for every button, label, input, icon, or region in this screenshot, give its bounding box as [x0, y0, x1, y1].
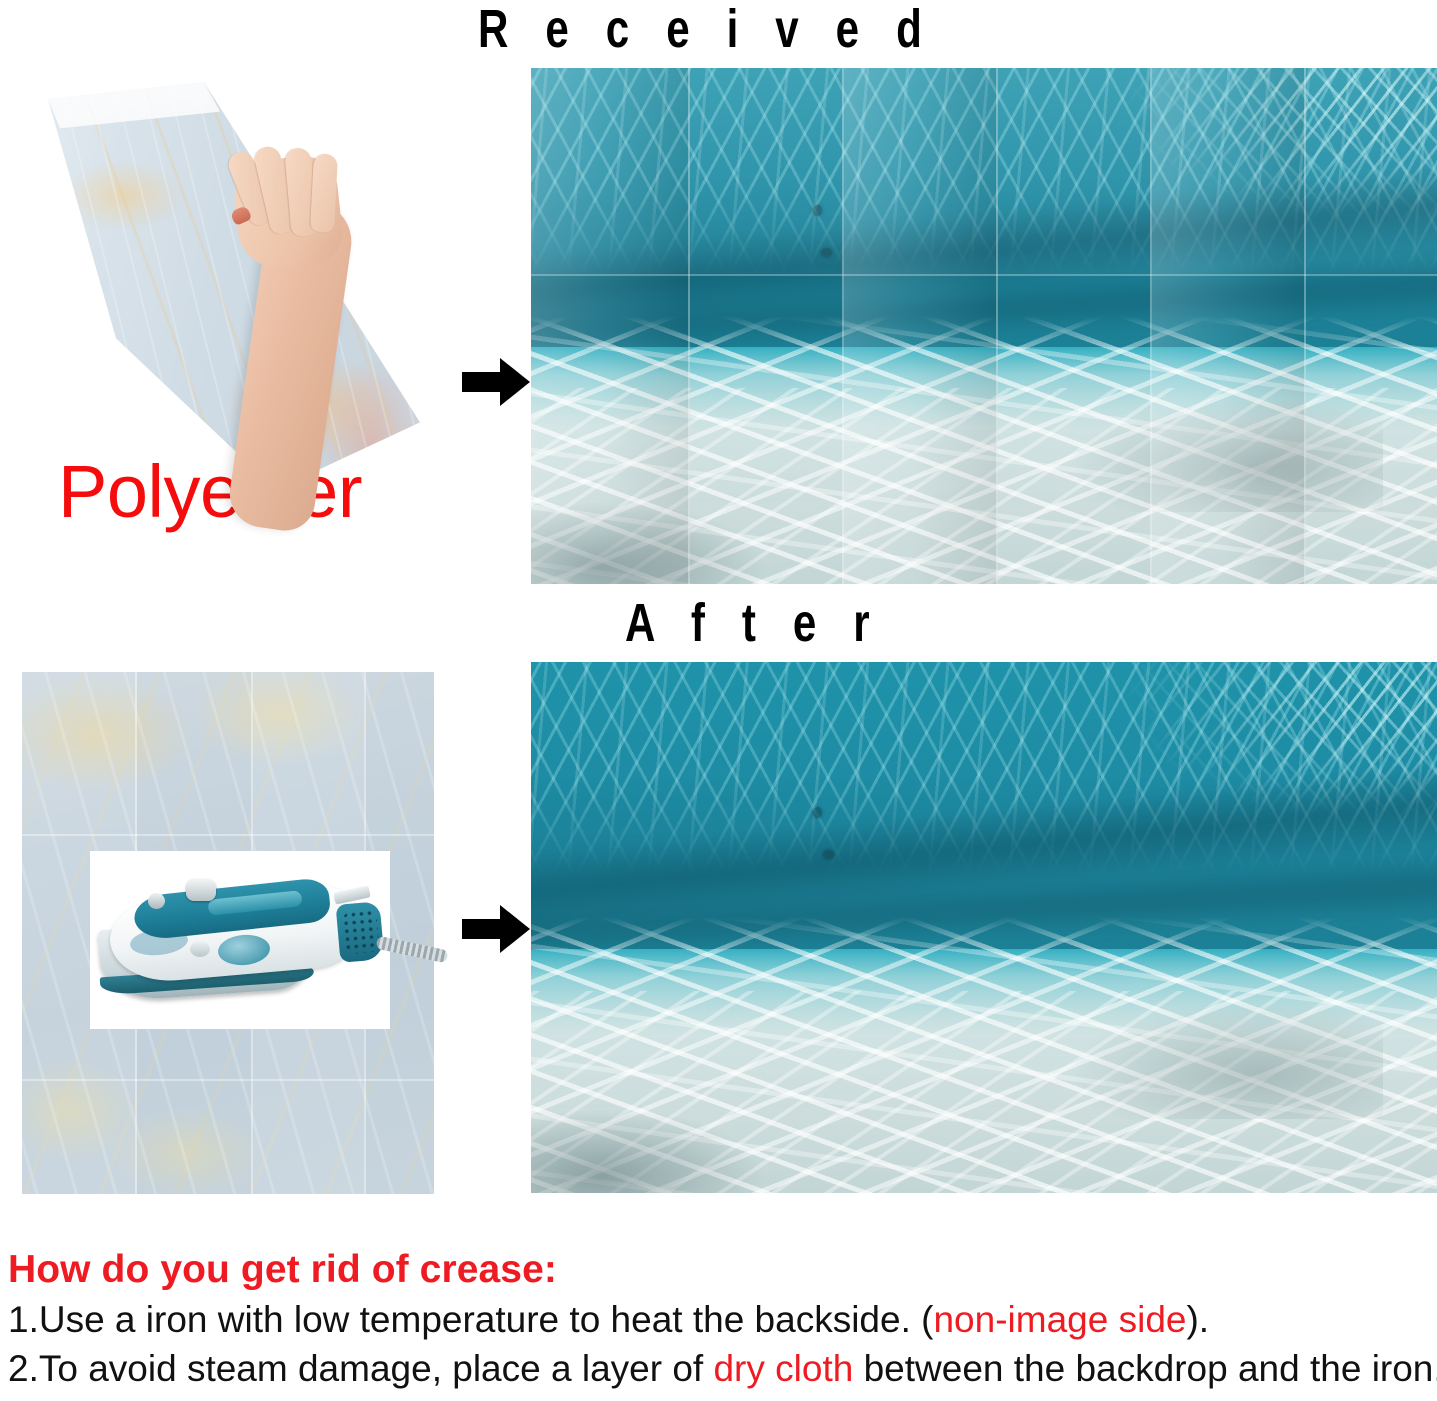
- instruction-2-highlight: dry cloth: [713, 1348, 853, 1389]
- instruction-1-suffix: ).: [1186, 1299, 1209, 1340]
- hand-icon: [0, 0, 1437, 1401]
- care-instructions: How do you get rid of crease: 1.Use a ir…: [8, 1248, 1433, 1391]
- instruction-line-1: 1.Use a iron with low temperature to hea…: [8, 1298, 1433, 1342]
- instruction-2-prefix: 2.To avoid steam damage, place a layer o…: [8, 1348, 713, 1389]
- instructions-title: How do you get rid of crease:: [8, 1248, 1433, 1292]
- instruction-1-prefix: 1.Use a iron with low temperature to hea…: [8, 1299, 933, 1340]
- instruction-line-2: 2.To avoid steam damage, place a layer o…: [8, 1347, 1433, 1391]
- finger-little: [310, 153, 338, 232]
- instruction-1-highlight: non-image side: [933, 1299, 1186, 1340]
- instruction-2-suffix: between the backdrop and the iron.: [853, 1348, 1437, 1389]
